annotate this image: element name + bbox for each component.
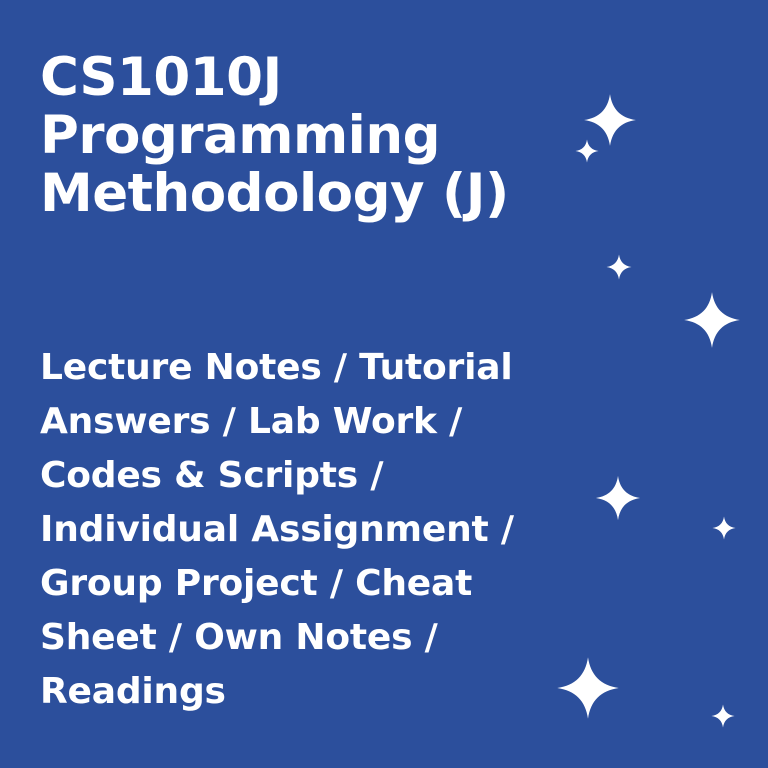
title-line-1: CS1010J bbox=[40, 49, 580, 107]
contents-line-5: Group Project / Cheat bbox=[40, 557, 560, 611]
contents-line-4: Individual Assignment / bbox=[40, 503, 560, 557]
contents-line-2: Answers / Lab Work / bbox=[40, 395, 560, 449]
contents-line-1: Lecture Notes / Tutorial bbox=[40, 341, 560, 395]
card-content: CS1010J Programming Methodology (J) Lect… bbox=[0, 0, 768, 768]
contents-line-6: Sheet / Own Notes / bbox=[40, 611, 560, 665]
contents-line-3: Codes & Scripts / bbox=[40, 449, 560, 503]
contents-list: Lecture Notes / Tutorial Answers / Lab W… bbox=[40, 341, 560, 719]
course-cover-card: CS1010J Programming Methodology (J) Lect… bbox=[0, 0, 768, 768]
page-title: CS1010J Programming Methodology (J) bbox=[40, 49, 580, 223]
title-line-3: Methodology (J) bbox=[40, 165, 580, 223]
contents-line-7: Readings bbox=[40, 665, 560, 719]
title-line-2: Programming bbox=[40, 107, 580, 165]
